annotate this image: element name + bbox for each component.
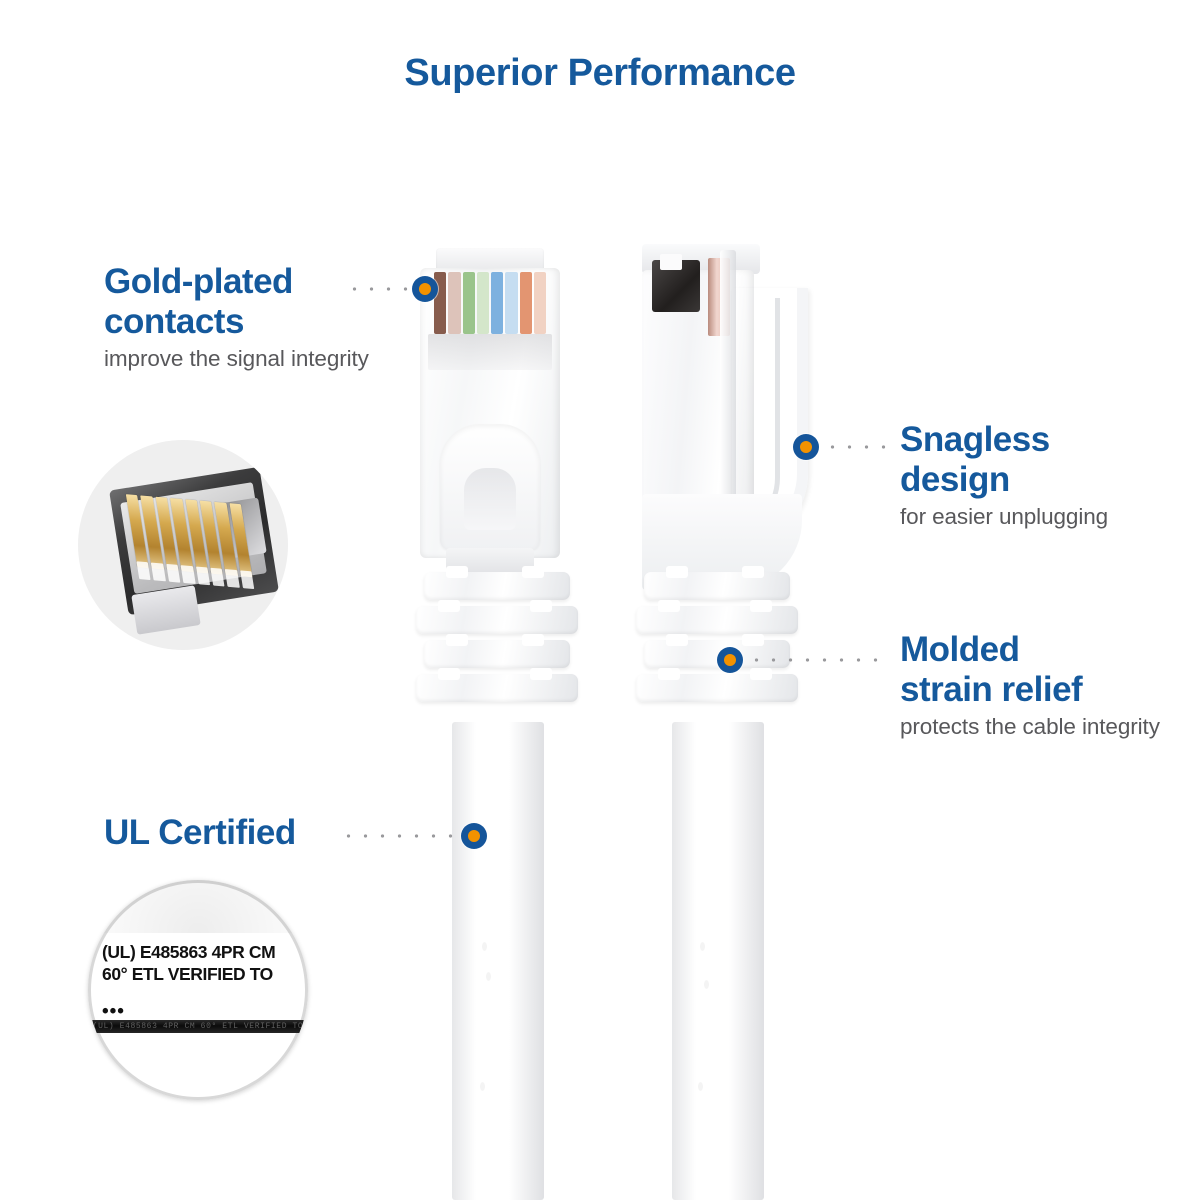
connector-latch-thumb <box>440 424 540 550</box>
callout-subtitle: for easier unplugging <box>900 503 1170 531</box>
callout-heading: Molded strain relief <box>900 630 1160 709</box>
rj45-connector-front-view <box>416 248 564 588</box>
callout-heading-line: Snagless <box>900 420 1170 460</box>
lens-gloss <box>88 880 308 933</box>
boot-rib <box>416 606 578 634</box>
cable-print-strip-text: (UL) E485863 4PR CM 60° ETL VERIFIED TO <box>88 1020 308 1033</box>
boot-rib <box>636 606 798 634</box>
infographic-canvas: Superior Performance <box>0 0 1200 1200</box>
cable-left-assembly <box>416 248 576 588</box>
callout-gold-plated-contacts: Gold-plated contacts improve the signal … <box>104 262 404 373</box>
callout-marker-snagless-design[interactable] <box>793 434 819 460</box>
callout-ul-certified: UL Certified <box>104 813 404 853</box>
boot-rib <box>636 674 798 702</box>
ul-print-line-2: 60° ETL VERIFIED TO <box>102 964 300 985</box>
cable-jacket-right <box>672 722 764 1200</box>
callout-heading-line: UL Certified <box>104 813 404 853</box>
callout-heading: Gold-plated contacts <box>104 262 404 341</box>
page-title: Superior Performance <box>0 52 1200 95</box>
callout-marker-gold-plated-contacts[interactable] <box>412 276 438 302</box>
cable-jacket-left <box>452 722 544 1200</box>
callout-heading: Snagless design <box>900 420 1170 499</box>
plug-latch-tab <box>131 585 200 635</box>
callout-heading: UL Certified <box>104 813 404 853</box>
callout-heading-line: strain relief <box>900 670 1160 710</box>
strain-relief-boot-left <box>424 572 570 708</box>
callout-heading-line: contacts <box>104 302 404 342</box>
ul-print-line-1: (UL) E485863 4PR CM <box>102 942 300 963</box>
boot-rib <box>424 640 570 668</box>
callout-subtitle: improve the signal integrity <box>104 345 404 373</box>
ul-print-ellipsis: ••• <box>102 1002 125 1021</box>
callout-snagless-design: Snagless design for easier unplugging <box>900 420 1170 531</box>
boot-rib <box>644 572 790 600</box>
leader-line-molded-strain-relief <box>748 657 888 663</box>
twisted-pair-wires <box>434 272 546 334</box>
gold-contacts-magnifier <box>78 440 288 650</box>
callout-marker-ul-certified[interactable] <box>461 823 487 849</box>
connector-port-opening <box>652 260 700 312</box>
ul-marking-magnifier: (UL) E485863 4PR CM 60° ETL VERIFIED TO … <box>88 880 308 1100</box>
callout-heading-line: Gold-plated <box>104 262 404 302</box>
callout-heading-line: Molded <box>900 630 1160 670</box>
callout-marker-molded-strain-relief[interactable] <box>717 647 743 673</box>
cable-print-strip: (UL) E485863 4PR CM 60° ETL VERIFIED TO <box>88 1020 308 1033</box>
boot-rib <box>416 674 578 702</box>
rj45-connector-side-view <box>636 244 812 590</box>
leader-line-snagless-design <box>824 444 886 450</box>
callout-heading-line: design <box>900 460 1170 500</box>
boot-rib <box>424 572 570 600</box>
connector-band <box>428 334 552 370</box>
cable-right-assembly <box>636 244 816 590</box>
strain-relief-boot-right <box>644 572 790 708</box>
callout-subtitle: protects the cable integrity <box>900 713 1160 741</box>
callout-molded-strain-relief: Molded strain relief protects the cable … <box>900 630 1160 741</box>
